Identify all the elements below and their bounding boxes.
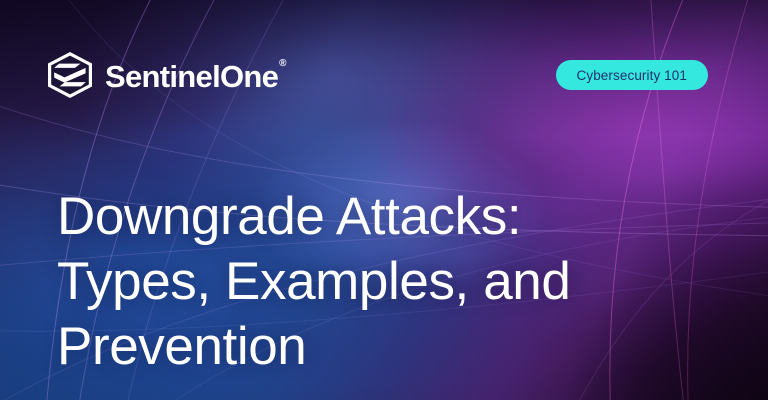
banner-header: SentinelOne® Cybersecurity 101: [48, 52, 708, 98]
brand-name-text: SentinelOne: [105, 59, 278, 94]
page-title-line-3: Prevention: [57, 314, 697, 379]
sentinelone-brand-logo[interactable]: SentinelOne®: [48, 52, 286, 98]
blog-hero-banner: SentinelOne® Cybersecurity 101 Downgrade…: [0, 0, 768, 400]
registered-trademark-icon: ®: [279, 58, 286, 69]
page-title: Downgrade Attacks: Types, Examples, and …: [57, 184, 697, 379]
category-badge-label: Cybersecurity 101: [577, 68, 688, 83]
sentinelone-wordmark: SentinelOne®: [105, 61, 286, 92]
page-title-line-1: Downgrade Attacks:: [57, 184, 697, 249]
sentinelone-hexagon-logo-icon: [48, 52, 92, 98]
category-badge-cybersecurity-101[interactable]: Cybersecurity 101: [556, 60, 709, 90]
page-title-line-2: Types, Examples, and: [57, 249, 697, 314]
